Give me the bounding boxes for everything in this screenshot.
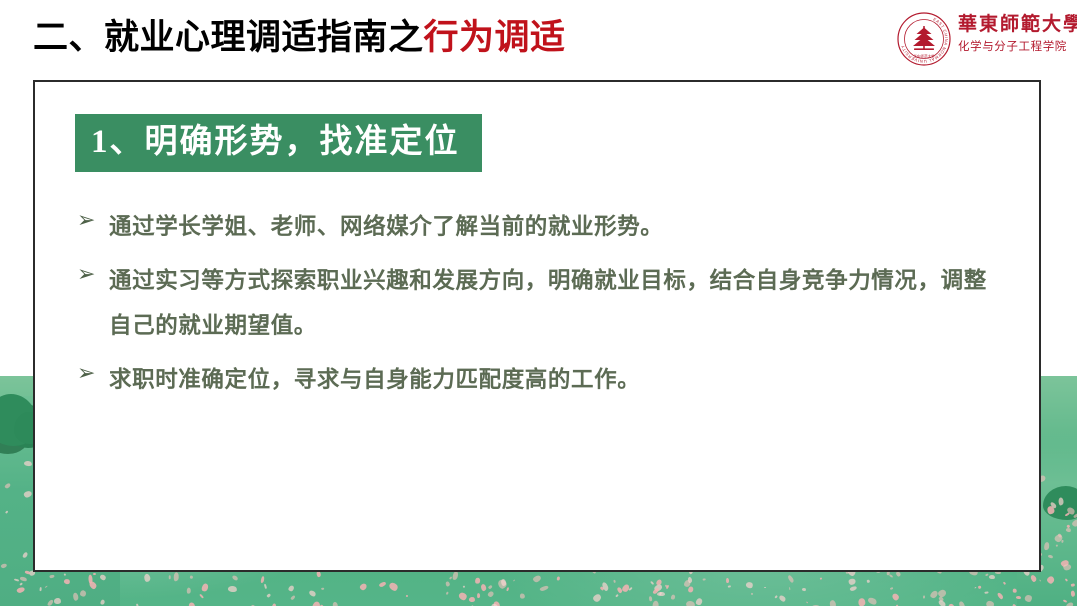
ecnu-seal-icon: EAST CHINA NORMAL UNIVERSITY 华东师范大学	[896, 11, 952, 67]
presentation-slide: 二、就业心理调适指南之行为调适 EAST CHINA NORMAL UNIVER…	[0, 0, 1077, 606]
list-item: ➢通过学长学姐、老师、网络媒介了解当前的就业形势。	[75, 204, 1005, 249]
logo-text-block: 華東師範大學 化学与分子工程学院	[958, 12, 1068, 56]
school-name: 化学与分子工程学院	[958, 38, 1068, 56]
section-banner: 1、明确形势，找准定位	[75, 114, 482, 172]
university-logo: EAST CHINA NORMAL UNIVERSITY 华东师范大学 華東師範…	[896, 10, 1068, 70]
petal-icon	[228, 585, 237, 592]
bullet-list: ➢通过学长学姐、老师、网络媒介了解当前的就业形势。➢通过实习等方式探索职业兴趣和…	[75, 204, 1005, 411]
list-item-text: 通过实习等方式探索职业兴趣和发展方向，明确就业目标，结合自身竞争力情况，调整自己…	[109, 268, 987, 338]
page-title-green-part: 二、就业心理调适指南之	[33, 18, 424, 57]
svg-text:华东师范大学: 华东师范大学	[913, 54, 935, 59]
arrow-bullet-icon: ➢	[77, 261, 97, 287]
page-title: 二、就业心理调适指南之行为调适	[33, 15, 566, 61]
arrow-bullet-icon: ➢	[77, 207, 97, 233]
arrow-bullet-icon: ➢	[77, 360, 97, 386]
petal-icon	[849, 578, 856, 584]
list-item-text: 通过学长学姐、老师、网络媒介了解当前的就业形势。	[109, 214, 663, 239]
petal-icon	[169, 575, 171, 579]
slide-header: 二、就业心理调适指南之行为调适 EAST CHINA NORMAL UNIVER…	[0, 0, 1077, 80]
page-title-red-part: 行为调适	[424, 18, 566, 57]
petal-icon	[1071, 590, 1075, 597]
university-name: 華東師範大學	[958, 12, 1068, 38]
petal-icon	[93, 572, 96, 574]
petal-icon	[613, 580, 616, 583]
petal-icon	[989, 574, 995, 578]
list-item: ➢求职时准确定位，寻求与自身能力匹配度高的工作。	[75, 357, 1005, 402]
petal-icon	[332, 602, 337, 606]
petal-icon	[73, 592, 79, 600]
section-banner-label: 1、明确形势，找准定位	[91, 121, 460, 163]
petal-icon	[728, 586, 731, 588]
petal-icon	[1058, 498, 1063, 506]
petal-icon	[648, 596, 652, 601]
list-item: ➢通过实习等方式探索职业兴趣和发展方向，明确就业目标，结合自身竞争力情况，调整自…	[75, 258, 1005, 348]
list-item-text: 求职时准确定位，寻求与自身能力匹配度高的工作。	[109, 367, 640, 392]
content-panel: 1、明确形势，找准定位 ➢通过学长学姐、老师、网络媒介了解当前的就业形势。➢通过…	[33, 80, 1041, 572]
